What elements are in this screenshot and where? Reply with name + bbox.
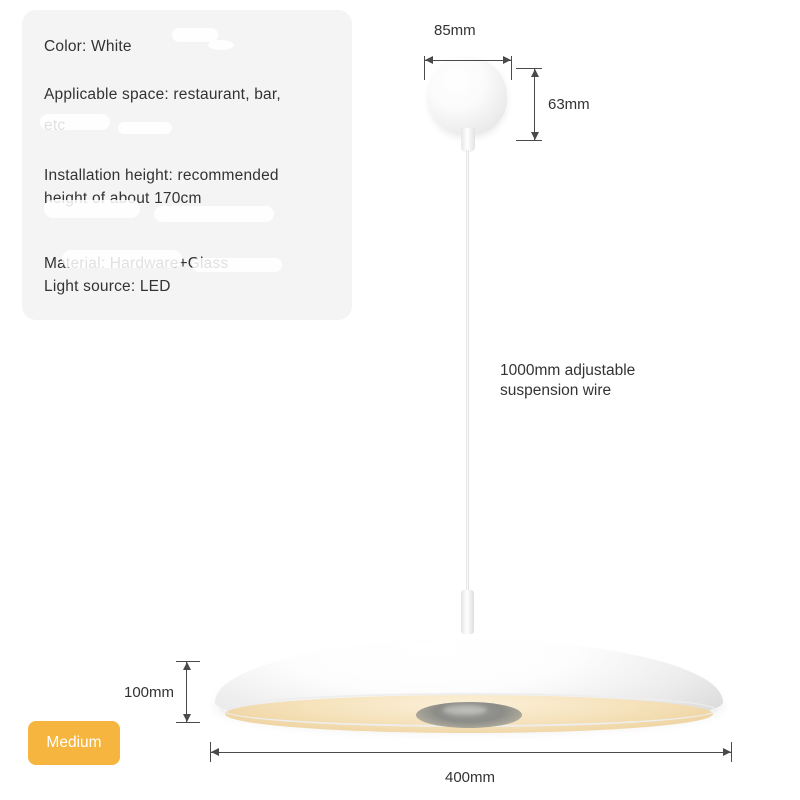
ceiling-canopy	[429, 57, 507, 135]
suspension-wire-note-line1: 1000mm adjustable	[500, 361, 635, 381]
canopy-height-arrow-bottom	[531, 132, 539, 140]
shade-height-arrow-bottom	[183, 714, 191, 722]
shade-width-label: 400mm	[445, 769, 495, 786]
shade-height-line	[186, 661, 187, 722]
size-badge-label: Medium	[46, 734, 101, 752]
spec-installation-height-line1: Installation height: recommended	[44, 165, 330, 186]
spec-color: Color: White	[44, 36, 330, 57]
suspension-wire	[466, 150, 469, 596]
canopy-height-line	[534, 68, 535, 140]
spec-installation-height-line2: height of about 170cm	[44, 188, 330, 209]
shade-height-tick-bottom	[176, 722, 200, 723]
canopy-height-label: 63mm	[548, 96, 590, 113]
spec-light-source: Light source: LED	[44, 276, 330, 297]
canopy-width-tick-right	[511, 56, 512, 80]
spec-card: Color: White Applicable space: restauran…	[22, 10, 352, 320]
spec-material: Material: Hardware+Glass	[44, 253, 330, 274]
lamp-shade	[215, 641, 723, 727]
size-badge[interactable]: Medium	[28, 721, 120, 765]
spec-applicable-space-line2: etc	[44, 115, 330, 136]
shade-height-arrow-top	[183, 662, 191, 670]
product-dimension-diagram: Color: White Applicable space: restauran…	[0, 0, 800, 800]
shade-width-line	[210, 752, 731, 753]
shade-width-arrow-right	[723, 748, 731, 756]
canopy-height-arrow-top	[531, 69, 539, 77]
canopy-width-arrow-left	[425, 56, 433, 64]
canopy-neck	[461, 128, 475, 152]
shade-height-label: 100mm	[124, 684, 174, 701]
suspension-wire-note: 1000mm adjustable suspension wire	[500, 361, 635, 401]
wire-collar	[461, 590, 474, 634]
shade-width-arrow-left	[211, 748, 219, 756]
canopy-width-line	[424, 60, 511, 61]
suspension-wire-note-line2: suspension wire	[500, 381, 635, 401]
canopy-width-label: 85mm	[434, 22, 476, 39]
spec-applicable-space-line1: Applicable space: restaurant, bar,	[44, 84, 330, 105]
led-highlight	[443, 705, 487, 715]
canopy-height-tick-bottom	[516, 140, 542, 141]
canopy-width-arrow-right	[503, 56, 511, 64]
shade-width-tick-right	[731, 742, 732, 762]
